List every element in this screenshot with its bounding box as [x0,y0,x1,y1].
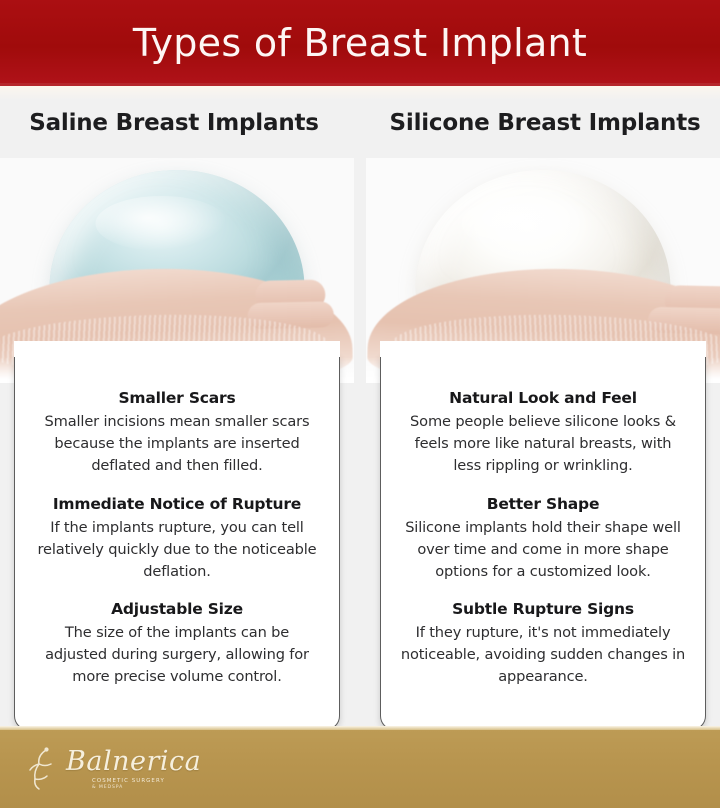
section-natural-look-and-feel: Natural Look and Feel Some people believ… [399,389,687,478]
section-title: Immediate Notice of Rupture [33,495,321,513]
section-subtle-rupture-signs: Subtle Rupture Signs If they rupture, it… [399,600,687,689]
section-title: Better Shape [399,495,687,513]
section-better-shape: Better Shape Silicone implants hold thei… [399,495,687,584]
section-smaller-scars: Smaller Scars Smaller incisions mean sma… [33,389,321,478]
implant-gloss-highlight [95,196,228,252]
columns-container: Smaller Scars Smaller incisions mean sma… [0,158,720,730]
saline-info-card: Smaller Scars Smaller incisions mean sma… [14,355,340,730]
column-headers: Saline Breast Implants Silicone Breast I… [0,110,720,136]
section-immediate-notice-of-rupture: Immediate Notice of Rupture If the impla… [33,495,321,584]
page-title: Types of Breast Implant [133,21,587,65]
card-top-mask [380,341,706,357]
card-top-mask [14,341,340,357]
section-body: If the implants rupture, you can tell re… [33,517,321,584]
section-title: Natural Look and Feel [399,389,687,407]
brand-logo-text: Balnerica Cosmetic Surgery & Medspa [66,748,201,790]
section-body: Silicone implants hold their shape well … [399,517,687,584]
logo-figure-icon [26,746,60,792]
column-saline: Smaller Scars Smaller incisions mean sma… [0,158,354,730]
implant-gloss-highlight [461,196,594,252]
content-area: Saline Breast Implants Silicone Breast I… [0,86,720,730]
title-banner: Types of Breast Implant [0,0,720,85]
finger-icon [648,307,720,335]
section-body: Some people believe silicone looks & fee… [399,411,687,478]
section-body: The size of the implants can be adjusted… [33,622,321,689]
silicone-info-card: Natural Look and Feel Some people believ… [380,355,706,730]
section-title: Smaller Scars [33,389,321,407]
section-body: If they rupture, it's not immediately no… [399,622,687,689]
column-header-silicone: Silicone Breast Implants [360,110,720,136]
section-adjustable-size: Adjustable Size The size of the implants… [33,600,321,689]
section-title: Subtle Rupture Signs [399,600,687,618]
brand-name: Balnerica [66,748,201,775]
column-header-saline: Saline Breast Implants [0,110,360,136]
section-title: Adjustable Size [33,600,321,618]
brand-logo[interactable]: Balnerica Cosmetic Surgery & Medspa [26,746,201,792]
brand-subtitle: Cosmetic Surgery [92,778,201,784]
column-silicone: Natural Look and Feel Some people believ… [366,158,720,730]
brand-subtitle-secondary: & Medspa [92,785,201,790]
section-body: Smaller incisions mean smaller scars bec… [33,411,321,478]
footer-bar: Balnerica Cosmetic Surgery & Medspa [0,730,720,808]
finger-icon [247,301,334,329]
top-fade [0,86,720,100]
